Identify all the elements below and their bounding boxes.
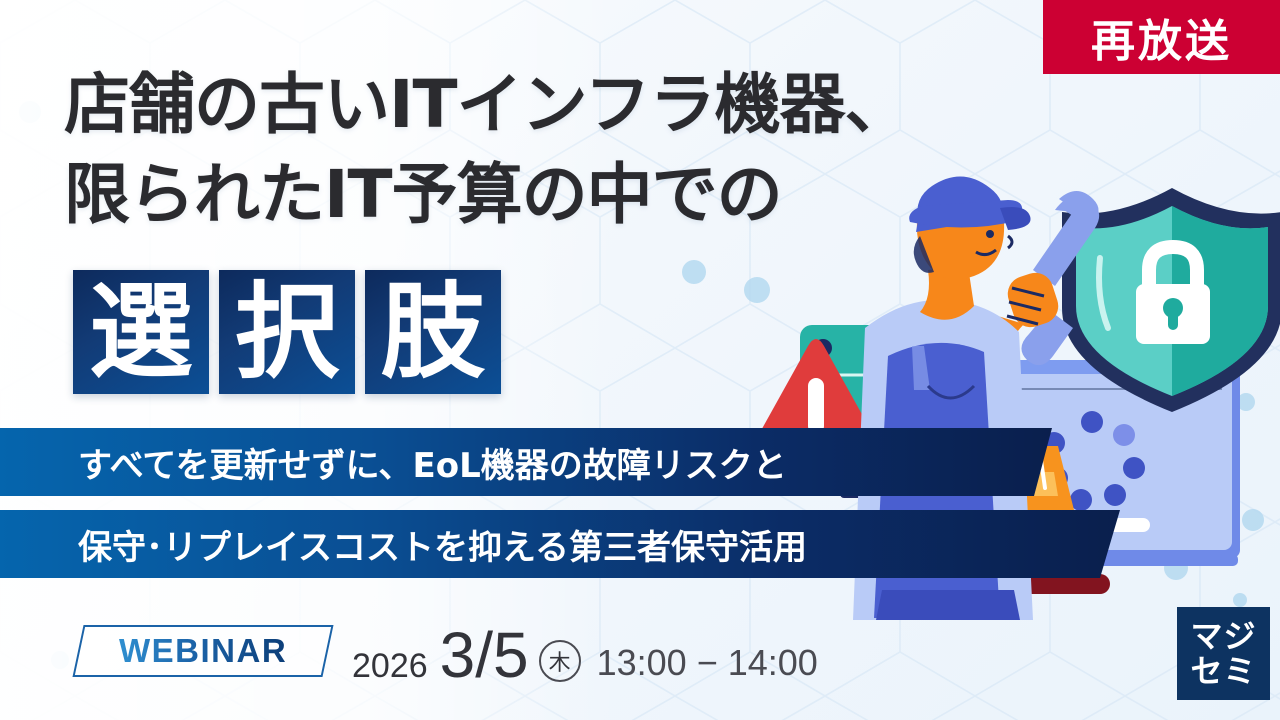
headline-emphasis: 選 択 肢 xyxy=(73,270,501,394)
webinar-tag-label: WEBINAR xyxy=(119,632,287,670)
event-month-day: 3/5 xyxy=(440,618,529,692)
emphasis-char-2: 択 xyxy=(219,270,355,394)
logo-line-1: マジ xyxy=(1190,619,1256,654)
footer-bar: WEBINAR 2026 3/5 木 13:00 − 14:00 xyxy=(0,600,1280,720)
majisemi-logo[interactable]: マジ セミ xyxy=(1177,607,1270,700)
webinar-tag: WEBINAR xyxy=(72,625,333,677)
event-datetime: 2026 3/5 木 13:00 − 14:00 xyxy=(352,618,818,692)
subtitle-band-2: 保守･リプレイスコストを抑える第三者保守活用 xyxy=(0,510,1120,578)
rebroadcast-badge: 再放送 xyxy=(1043,0,1280,74)
event-time: 13:00 − 14:00 xyxy=(597,642,818,684)
webinar-banner: 再放送 店舗の古いITインフラ機器、 限られたIT予算の中での 選 択 肢 すべ… xyxy=(0,0,1280,720)
rebroadcast-badge-label: 再放送 xyxy=(1091,5,1232,69)
headline-line-2: 限られたIT予算の中での xyxy=(64,162,1064,228)
subtitle-band-1: すべてを更新せずに、EoL機器の故障リスクと xyxy=(0,428,1052,496)
logo-line-2: セミ xyxy=(1190,654,1256,689)
event-year: 2026 xyxy=(352,647,428,686)
subtitle-band-2-text: 保守･リプレイスコストを抑える第三者保守活用 xyxy=(78,520,807,569)
page-title: 店舗の古いITインフラ機器、 限られたIT予算の中での xyxy=(64,72,1064,228)
subtitle-band-1-text: すべてを更新せずに、EoL機器の故障リスクと xyxy=(78,438,787,487)
headline-line-1: 店舗の古いITインフラ機器、 xyxy=(64,72,1064,138)
emphasis-char-1: 選 xyxy=(73,270,209,394)
event-day-of-week: 木 xyxy=(539,640,581,682)
emphasis-char-3: 肢 xyxy=(365,270,501,394)
